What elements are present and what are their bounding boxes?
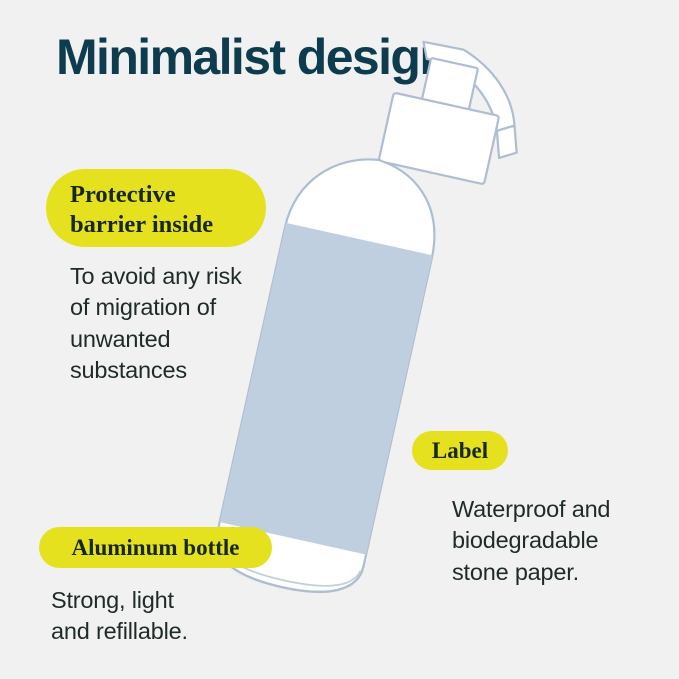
infographic-canvas: Minimalist design Protective barrier i bbox=[0, 0, 679, 679]
label-top-edge bbox=[286, 223, 432, 255]
protective-text-line-2: of migration of bbox=[70, 292, 242, 323]
label-text-line-3: stone paper. bbox=[452, 557, 610, 588]
callout-text-label: Waterproof and biodegradable stone paper… bbox=[452, 494, 610, 588]
badge-aluminum-line-1: Aluminum bottle bbox=[71, 535, 239, 561]
pump-head bbox=[379, 93, 500, 185]
protective-text-line-3: unwanted bbox=[70, 324, 242, 355]
callout-text-protective-barrier: To avoid any risk of migration of unwant… bbox=[70, 261, 242, 386]
badge-label[interactable]: Label bbox=[412, 431, 508, 470]
protective-text-line-4: substances bbox=[70, 355, 242, 386]
aluminum-text-line-1: Strong, light bbox=[51, 585, 188, 616]
label-text-line-2: biodegradable bbox=[452, 525, 610, 556]
badge-protective-line-2: barrier inside bbox=[70, 210, 246, 240]
protective-text-line-1: To avoid any risk bbox=[70, 261, 242, 292]
badge-label-line-1: Label bbox=[432, 438, 488, 464]
badge-protective-barrier[interactable]: Protective barrier inside bbox=[46, 169, 266, 247]
badge-aluminum-bottle[interactable]: Aluminum bottle bbox=[39, 527, 272, 568]
label-text-line-1: Waterproof and bbox=[452, 494, 610, 525]
page-title: Minimalist design bbox=[56, 29, 448, 85]
pump-spout-tip bbox=[491, 122, 522, 161]
badge-protective-line-1: Protective bbox=[70, 180, 246, 210]
callout-text-aluminum-bottle: Strong, light and refillable. bbox=[51, 585, 188, 648]
aluminum-text-line-2: and refillable. bbox=[51, 616, 188, 647]
bottle-label-band bbox=[220, 223, 433, 554]
